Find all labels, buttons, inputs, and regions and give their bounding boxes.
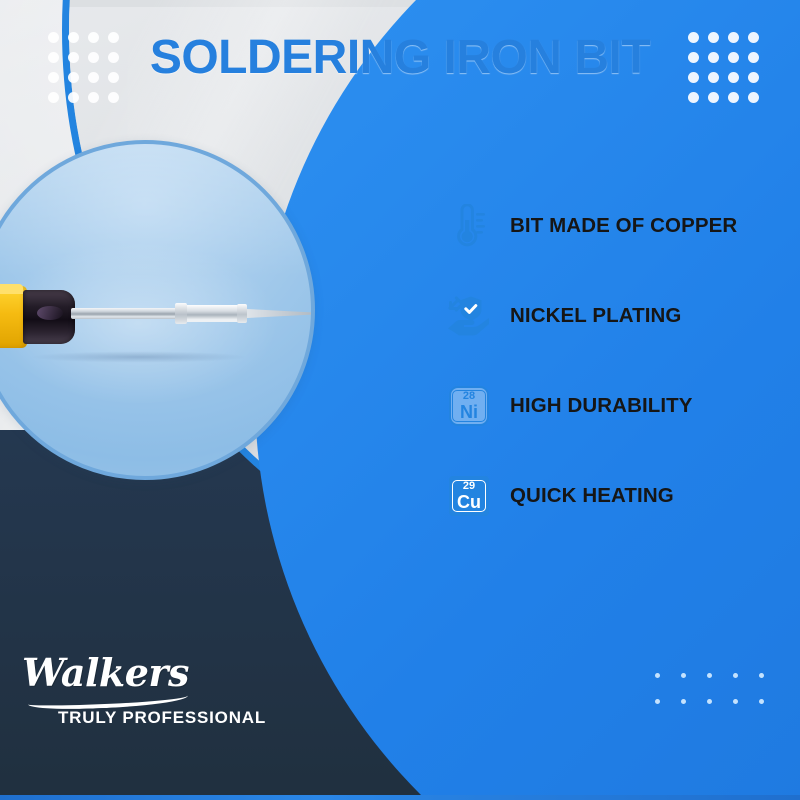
brand-name: Walkers bbox=[22, 654, 266, 692]
feature-row-nickel-plating: NICKEL PLATING bbox=[446, 286, 776, 346]
product-infographic-poster: C4390 R2 C252 PA0C200 P409 V2 L6203 L620… bbox=[0, 0, 800, 800]
bit-yellow-top bbox=[0, 284, 23, 294]
feature-row-quick-heating: 29 Cu QUICK HEATING bbox=[446, 466, 776, 526]
element-copper-icon: 29 Cu bbox=[446, 473, 492, 519]
thermometer-icon bbox=[446, 203, 492, 249]
element-number: 29 bbox=[463, 481, 475, 492]
element-symbol: Cu bbox=[457, 493, 481, 511]
dot-grid-right bbox=[688, 32, 754, 98]
product-shadow bbox=[0, 349, 289, 365]
bit-tapered-tip bbox=[247, 309, 315, 318]
feature-label: QUICK HEATING bbox=[510, 484, 674, 508]
brand-tagline: TRULY PROFESSIONAL bbox=[58, 708, 266, 728]
element-nickel-icon: 28 Ni bbox=[446, 383, 492, 429]
product-image-circle bbox=[0, 140, 315, 480]
feature-label: HIGH DURABILITY bbox=[510, 394, 693, 418]
bit-mid-sleeve bbox=[185, 305, 239, 322]
brand-logo: Walkers TRULY PROFESSIONAL bbox=[22, 654, 266, 728]
bottom-blue-strip bbox=[0, 795, 800, 800]
feature-row-copper: BIT MADE OF COPPER bbox=[446, 196, 776, 256]
dot-grid-bottom-right bbox=[655, 673, 764, 704]
feature-list: BIT MADE OF COPPER NICKEL PLATING 2 bbox=[446, 196, 776, 526]
feature-row-durability: 28 Ni HIGH DURABILITY bbox=[446, 376, 776, 436]
header: SOLDERING IRON BIT bbox=[0, 0, 800, 120]
page-title: SOLDERING IRON BIT bbox=[0, 30, 800, 85]
bit-collar-b bbox=[237, 304, 247, 323]
feature-label: NICKEL PLATING bbox=[510, 304, 681, 328]
element-symbol: Ni bbox=[460, 403, 478, 421]
hand-shield-check-icon bbox=[446, 293, 492, 339]
soldering-iron-bit-illustration bbox=[0, 302, 315, 330]
bit-collar-a bbox=[175, 303, 187, 324]
element-number: 28 bbox=[463, 391, 475, 402]
feature-label: BIT MADE OF COPPER bbox=[510, 214, 737, 238]
bit-black-ferrule bbox=[23, 290, 75, 344]
